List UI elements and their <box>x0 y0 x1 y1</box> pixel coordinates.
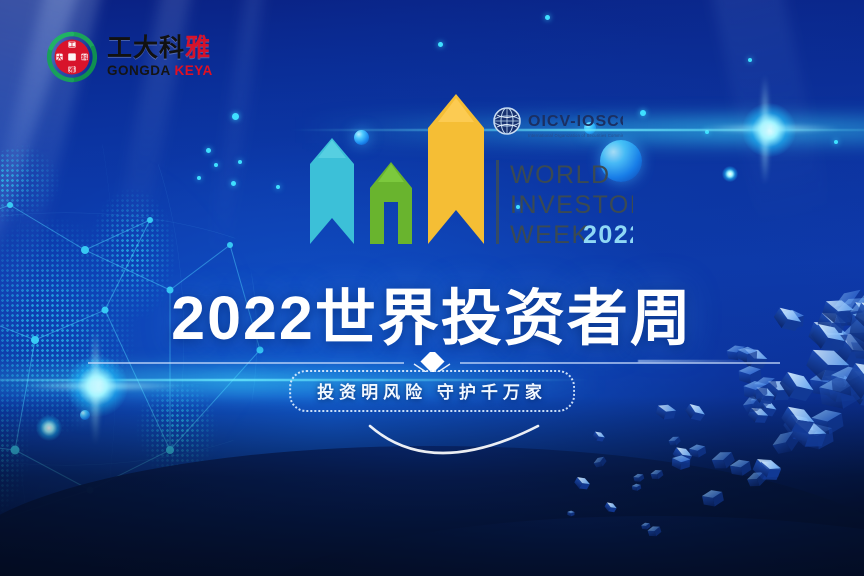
gongda-keya-emblem-icon: 工大 科雅 <box>46 31 98 83</box>
page-title: 2022世界投资者周 <box>0 268 864 357</box>
brand-logo[interactable]: 工大 科雅 工大科雅 GONGDA KEYA <box>46 31 213 83</box>
iosco-tagline: International Organization of Securities… <box>528 133 623 138</box>
pencil-yellow-icon <box>428 94 484 244</box>
brand-name-en-part2: KEYA <box>175 63 213 78</box>
wiw-line1: WORLD <box>510 161 611 189</box>
pencil-green-icon <box>370 162 412 244</box>
brand-name-cn-main: 工大科 <box>107 35 185 62</box>
pencil-teal-icon <box>310 138 354 244</box>
slogan-text: 投资明风险 守护千万家 <box>317 378 547 403</box>
brand-name-en: GONGDA KEYA <box>107 64 213 78</box>
diamond-divider-icon <box>0 352 864 372</box>
iosco-wordmark: OICV-IOSCO <box>528 113 623 130</box>
smile-arc-underline-icon <box>0 404 864 460</box>
iosco-globe-icon <box>494 108 520 134</box>
svg-text:科: 科 <box>81 54 87 62</box>
brand-name-cn: 工大科雅 <box>107 36 213 61</box>
world-investor-week-lockup: WORLD INVESTOR WEEK 2022 OICV-IOSCO Inte… <box>288 84 633 259</box>
brand-wordmark: 工大科雅 GONGDA KEYA <box>107 36 213 78</box>
banner-canvas: 工大 科雅 工大科雅 GONGDA KEYA <box>0 0 864 576</box>
wiw-year: 2022 <box>583 221 633 249</box>
wiw-line3: WEEK <box>510 221 590 249</box>
svg-text:雅: 雅 <box>68 66 75 74</box>
brand-name-cn-accent: 雅 <box>185 35 211 62</box>
iosco-logo: OICV-IOSCO International Organization of… <box>488 106 623 148</box>
svg-text:大: 大 <box>56 54 62 62</box>
svg-text:工: 工 <box>69 42 75 49</box>
lockup-rule <box>496 160 499 244</box>
wiw-line2: INVESTOR <box>510 191 633 219</box>
brand-name-en-part1: GONGDA <box>107 63 175 78</box>
